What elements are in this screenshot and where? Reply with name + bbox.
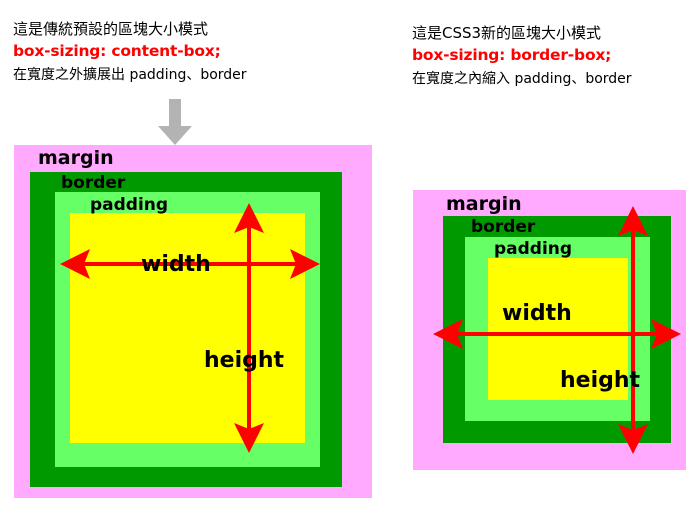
caption-line-note: 在寬度之內縮入 padding、border <box>412 72 632 86</box>
box-model-diagram-content-box: margin border padding width height <box>14 145 372 498</box>
grey-down-arrow-icon <box>150 99 200 145</box>
caption-line-code: box-sizing: content-box; <box>13 44 247 60</box>
panel-border-box: 這是CSS3新的區塊大小模式 box-sizing: border-box; 在… <box>400 0 700 514</box>
height-arrow-icon <box>234 203 264 453</box>
caption-line-description: 這是傳統預設的區塊大小模式 <box>13 22 247 37</box>
caption-content-box: 這是傳統預設的區塊大小模式 box-sizing: content-box; 在… <box>13 22 247 82</box>
label-border: border <box>61 175 125 192</box>
caption-line-code: box-sizing: border-box; <box>412 48 632 64</box>
box-model-diagram-border-box: margin border padding width height <box>413 190 686 470</box>
caption-border-box: 這是CSS3新的區塊大小模式 box-sizing: border-box; 在… <box>412 26 632 86</box>
caption-line-note: 在寬度之外擴展出 padding、border <box>13 68 247 82</box>
caption-line-description: 這是CSS3新的區塊大小模式 <box>412 26 632 41</box>
label-width: width <box>141 254 211 276</box>
height-arrow-icon <box>618 206 648 454</box>
label-height: height <box>204 350 284 372</box>
label-width: width <box>502 303 572 325</box>
dimension-arrows-border-box <box>433 206 681 454</box>
dimension-arrows-content-box <box>60 203 320 453</box>
label-height: height <box>560 370 640 392</box>
label-margin: margin <box>38 149 114 168</box>
panel-content-box: 這是傳統預設的區塊大小模式 box-sizing: content-box; 在… <box>0 0 400 514</box>
